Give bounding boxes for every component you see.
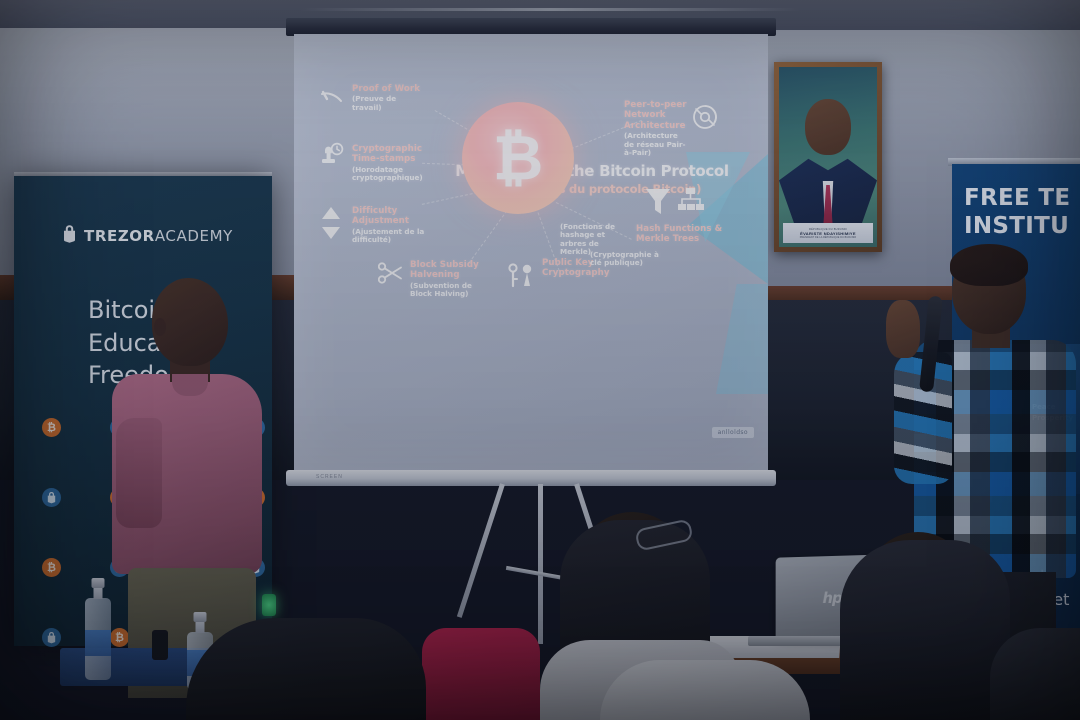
node-label-fr: (Architecture de réseau Pair-à-Pair) xyxy=(624,132,690,157)
fti-title-line-2: INSTITU xyxy=(964,212,1070,240)
screen-brand-label: SCREEN xyxy=(316,474,343,480)
node-label-fr: (Ajustement de la difficulté) xyxy=(352,228,440,245)
node-label-fr: (Horodatage cryptographique) xyxy=(352,166,438,183)
audience-silhouette xyxy=(840,540,1010,720)
node-label-fr: (Subvention de Block Halving) xyxy=(410,282,494,299)
trezor-wordmark: TREZORACADEMY xyxy=(84,227,233,245)
bitcoin-badge-icon: ₿ xyxy=(42,418,61,437)
trezor-lock-icon xyxy=(62,224,77,248)
bitcoin-badge-icon: ₿ xyxy=(42,558,61,577)
node-hash-functions-merkle-trees: Hash Functions & Merkle Trees xyxy=(636,224,728,245)
node-block-subsidy-halvening: Block Subsidy Halvening (Subvention de B… xyxy=(410,260,494,299)
bottle-label xyxy=(85,630,111,656)
pickaxe-icon xyxy=(320,90,344,112)
bottle-cap xyxy=(194,612,207,622)
scissors-icon xyxy=(378,262,404,284)
presenter-hand xyxy=(886,300,920,358)
node-proof-of-work: Proof of Work (Preuve de travail) xyxy=(352,84,424,112)
hp-logo-icon: hp xyxy=(823,589,842,607)
ceiling-rail xyxy=(300,8,800,11)
node-hash-functions-merkle-trees-fr: (Fonctions de hashage et arbres de Merkl… xyxy=(560,222,630,256)
node-label-en: Hash Functions & Merkle Trees xyxy=(636,224,728,245)
fti-title: FREE TE INSTITU xyxy=(964,184,1070,240)
node-label-en: Cryptographic Time-stamps xyxy=(352,144,438,165)
bitcoin-symbol-icon: ₿ xyxy=(493,127,544,189)
projector-screen: Mechanics of the Bitcoin Protocol (Mécan… xyxy=(286,18,776,488)
trezor-badge-icon xyxy=(42,628,61,647)
audience-silhouette xyxy=(990,628,1080,720)
academy-name: ACADEMY xyxy=(155,227,233,245)
funnel-merkle-icon xyxy=(644,186,708,220)
audience-white-shirt xyxy=(600,660,810,720)
node-label-fr: (Fonctions de hashage et arbres de Merkl… xyxy=(560,223,630,256)
portrait-head xyxy=(805,99,851,155)
node-peer-to-peer-network: Peer-to-peer Network Architecture (Archi… xyxy=(624,100,690,157)
presentation-room-photo: RÉPUBLIQUE DU BURUNDI ÉVARISTE NDAYISHIM… xyxy=(0,0,1080,720)
attendee-left-collar xyxy=(172,374,208,396)
tripod-leg xyxy=(457,483,505,618)
node-label-en: Peer-to-peer Network Architecture xyxy=(624,100,690,131)
framed-portrait: RÉPUBLIQUE DU BURUNDI ÉVARISTE NDAYISHIM… xyxy=(774,62,882,252)
slide-decoration-c xyxy=(716,284,768,394)
attendee-left-sleeve xyxy=(116,418,162,528)
green-indicator-light xyxy=(262,594,276,616)
spoke-line xyxy=(468,206,510,263)
trezor-name: TREZOR xyxy=(84,227,155,245)
slide-content: Mechanics of the Bitcoin Protocol (Mécan… xyxy=(294,34,768,472)
node-label-fr: (Preuve de travail) xyxy=(352,95,424,112)
node-cryptographic-time-stamps: Cryptographic Time-stamps (Horodatage cr… xyxy=(352,144,438,183)
tripod-leg xyxy=(538,484,543,644)
network-nodes-icon xyxy=(692,104,718,130)
trezor-logo: TREZORACADEMY xyxy=(62,224,233,248)
bitcoin-circle: ₿ xyxy=(462,102,574,214)
up-down-arrows-icon xyxy=(320,206,342,240)
portrait-image: RÉPUBLIQUE DU BURUNDI ÉVARISTE NDAYISHIM… xyxy=(779,67,877,247)
attendee-left xyxy=(110,278,270,678)
node-difficulty-adjustment: Difficulty Adjustment (Ajustement de la … xyxy=(352,206,440,245)
chair-red xyxy=(422,628,540,720)
key-icon xyxy=(506,262,536,288)
trezor-badge-icon xyxy=(42,488,61,507)
fti-title-line-1: FREE TE xyxy=(964,184,1070,212)
stamp-clock-icon xyxy=(318,142,346,170)
node-label-en: Block Subsidy Halvening xyxy=(410,260,494,281)
presenter-hair xyxy=(950,244,1028,286)
bottle-neck xyxy=(196,621,205,633)
portrait-caption-role: PRÉSIDENT DE LA RÉPUBLIQUE DU BURUNDI xyxy=(800,236,857,239)
portrait-caption: RÉPUBLIQUE DU BURUNDI ÉVARISTE NDAYISHIM… xyxy=(783,223,873,243)
node-label-en: Proof of Work xyxy=(352,84,424,94)
node-label-en: Difficulty Adjustment xyxy=(352,206,440,227)
slide-watermark: anlloldso xyxy=(712,427,754,438)
bottle-neck xyxy=(94,587,103,599)
bottle-cap xyxy=(92,578,105,588)
phone-on-table xyxy=(152,630,168,660)
attendee-left-ear xyxy=(154,318,166,336)
